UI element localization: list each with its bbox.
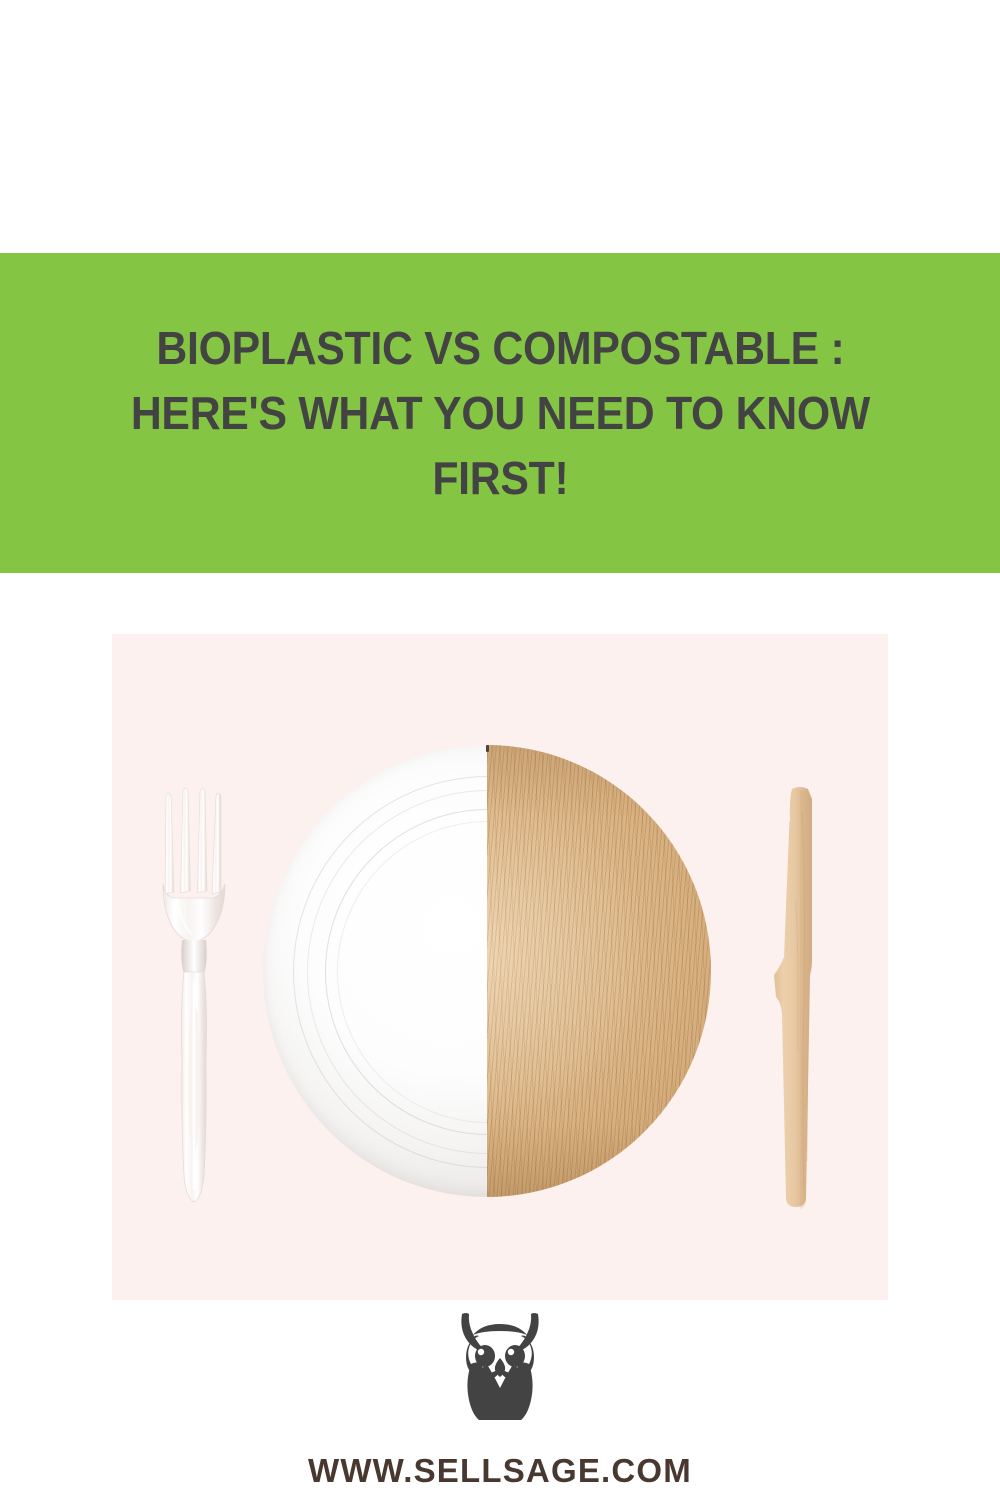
page-title: BIOPLASTIC VS COMPOSTABLE : HERE'S WHAT … <box>130 316 869 511</box>
plate-image <box>263 745 711 1197</box>
knife-icon <box>772 781 840 1213</box>
plate-palmleaf-half <box>487 745 711 1197</box>
owl-logo-icon <box>455 1312 545 1424</box>
hero-photo <box>112 634 888 1300</box>
plate-white-half <box>263 745 487 1197</box>
site-url[interactable]: WWW.SELLSAGE.COM <box>0 1452 1000 1490</box>
title-banner: BIOPLASTIC VS COMPOSTABLE : HERE'S WHAT … <box>0 253 1000 573</box>
fork-icon <box>158 780 230 1212</box>
plate-seam <box>486 745 489 752</box>
